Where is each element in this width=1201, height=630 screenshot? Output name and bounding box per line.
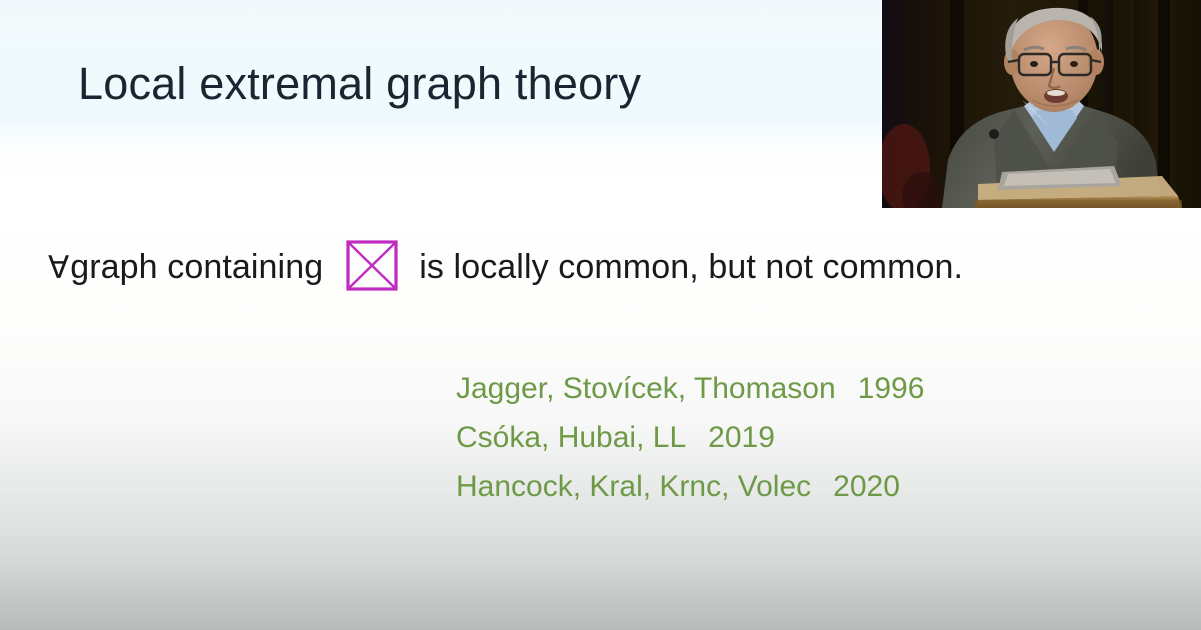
reference-item: Csóka, Hubai, LL2019 (456, 413, 924, 462)
statement-text-after: is locally common, but not common. (419, 250, 963, 284)
reference-authors: Hancock, Kral, Krnc, Volec (456, 470, 811, 503)
reference-year: 2020 (833, 462, 900, 511)
reference-authors: Csóka, Hubai, LL (456, 421, 686, 454)
reference-item: Hancock, Kral, Krnc, Volec2020 (456, 462, 924, 511)
reference-year: 2019 (708, 413, 775, 462)
page-title: Local extremal graph theory (78, 58, 641, 110)
k4-graph-icon (345, 240, 399, 292)
statement-line: ∀ graph containing is locally common, bu… (48, 241, 963, 293)
reference-list: Jagger, Stovícek, Thomason1996 Csóka, Hu… (456, 364, 924, 511)
reference-item: Jagger, Stovícek, Thomason1996 (456, 364, 924, 413)
speaker-video-inset[interactable] (882, 0, 1201, 208)
reference-authors: Jagger, Stovícek, Thomason (456, 372, 836, 405)
reference-year: 1996 (858, 364, 925, 413)
slide-screenshot: Local extremal graph theory ∀ graph cont… (0, 0, 1201, 630)
forall-symbol: ∀ (48, 252, 69, 283)
statement-text-before: graph containing (70, 250, 323, 284)
